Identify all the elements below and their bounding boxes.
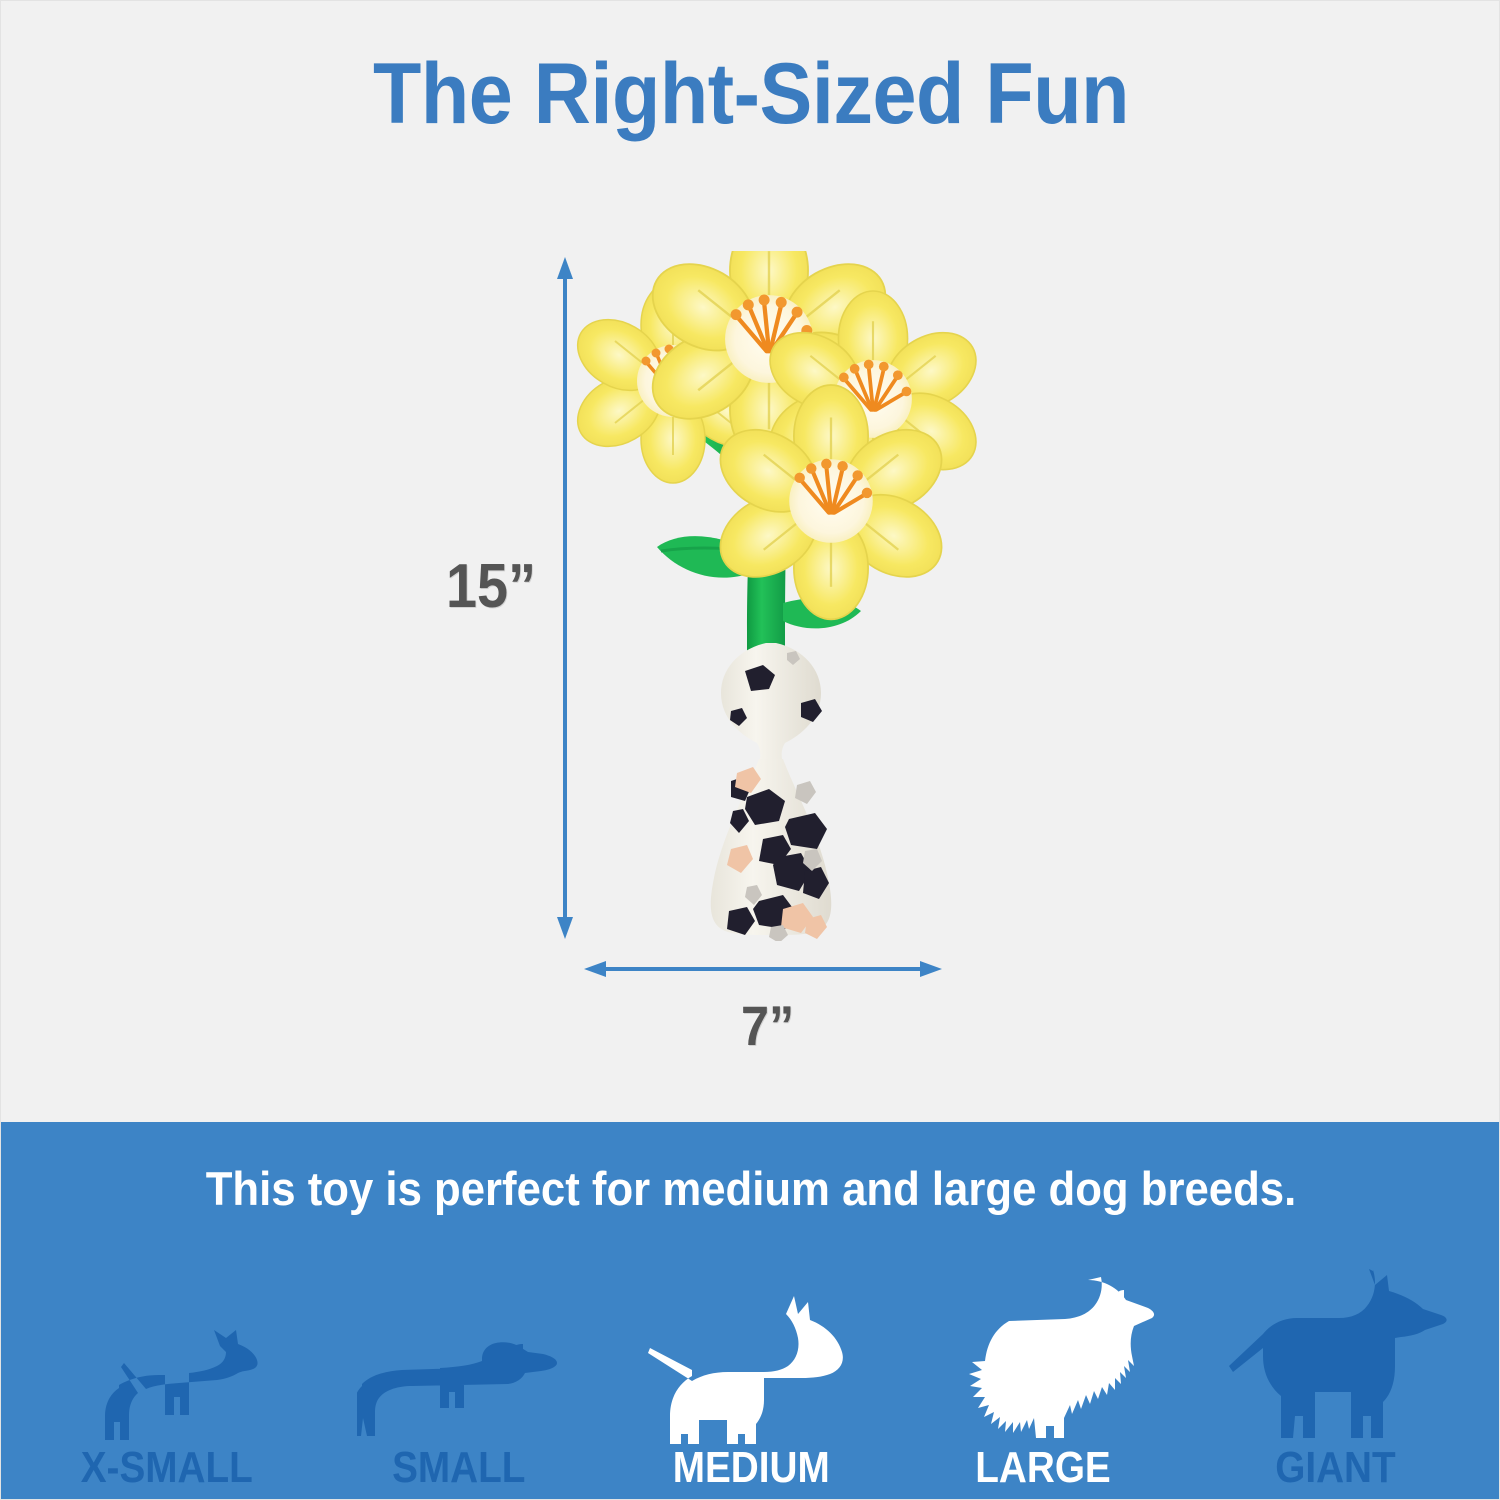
bull-terrier-silhouette-icon — [644, 1259, 859, 1444]
size-guide-banner: This toy is perfect for medium and large… — [1, 1122, 1500, 1500]
width-measurement-line — [600, 967, 926, 971]
banner-headline: This toy is perfect for medium and large… — [54, 1161, 1449, 1216]
dog-size-scale: X-SMALL SMALL MEDIUM — [1, 1240, 1500, 1490]
great-dane-silhouette-icon — [1223, 1259, 1448, 1444]
size-option-medium[interactable]: MEDIUM — [605, 1240, 897, 1490]
golden-retriever-silhouette-icon — [928, 1259, 1158, 1444]
size-label-x-small: X-SMALL — [81, 1446, 253, 1490]
product-illustration-area: 15” 7” — [1, 121, 1500, 1121]
height-measurement-label: 15” — [446, 551, 536, 622]
size-option-small[interactable]: SMALL — [313, 1240, 605, 1490]
dachshund-silhouette-icon — [357, 1259, 562, 1444]
size-option-x-small[interactable]: X-SMALL — [21, 1240, 313, 1490]
size-label-small: SMALL — [392, 1446, 525, 1490]
size-option-giant[interactable]: GIANT — [1189, 1240, 1481, 1490]
size-label-medium: MEDIUM — [672, 1446, 829, 1490]
width-measurement-arrow — [584, 961, 942, 977]
size-label-large: LARGE — [975, 1446, 1111, 1490]
width-measurement-label: 7” — [741, 993, 794, 1058]
plush-flower-toy-image — [561, 251, 981, 941]
size-option-large[interactable]: LARGE — [897, 1240, 1189, 1490]
size-label-giant: GIANT — [1275, 1446, 1395, 1490]
arrow-right-icon — [920, 961, 942, 977]
product-size-infographic: The Right-Sized Fun 15” 7” — [0, 0, 1500, 1500]
chihuahua-silhouette-icon — [70, 1259, 265, 1444]
